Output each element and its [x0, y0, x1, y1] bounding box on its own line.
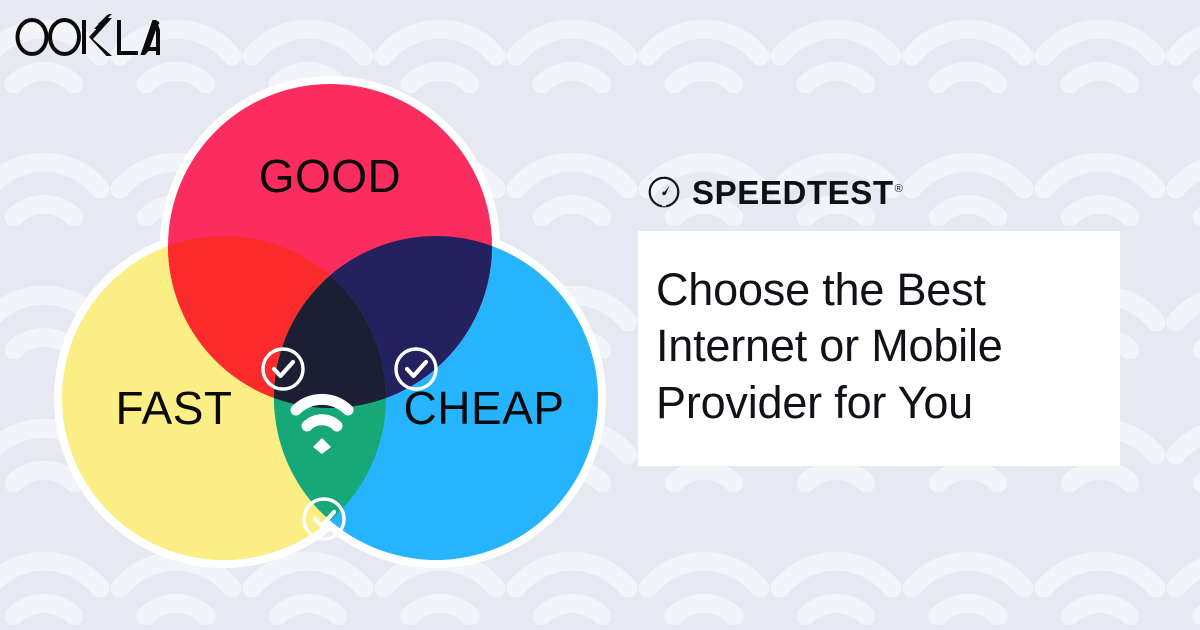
- right-content-panel: SPEEDTEST® Choose the Best Internet or M…: [638, 170, 1120, 466]
- venn-label-cheap: CHEAP: [404, 382, 565, 434]
- ookla-logo: [14, 14, 160, 60]
- venn-diagram: GOOD FAST CHEAP: [52, 62, 608, 578]
- headline-line-2: Internet or Mobile: [656, 320, 1003, 371]
- venn-label-good: GOOD: [259, 150, 402, 202]
- speedtest-wordmark: SPEEDTEST®: [692, 176, 903, 209]
- headline-line-3: Provider for You: [656, 377, 973, 428]
- venn-label-fast: FAST: [115, 382, 232, 434]
- speedtest-logo: SPEEDTEST®: [638, 170, 1120, 214]
- page-title: Choose the Best Internet or Mobile Provi…: [656, 262, 1086, 431]
- registered-trademark-symbol: ®: [895, 183, 903, 195]
- headline-card: Choose the Best Internet or Mobile Provi…: [638, 231, 1120, 466]
- speedtest-wordmark-text: SPEEDTEST: [692, 174, 894, 211]
- headline-line-1: Choose the Best: [656, 264, 986, 315]
- speedtest-promo-banner: GOOD FAST CHEAP: [0, 0, 1200, 630]
- speedometer-gauge-icon: [647, 175, 681, 209]
